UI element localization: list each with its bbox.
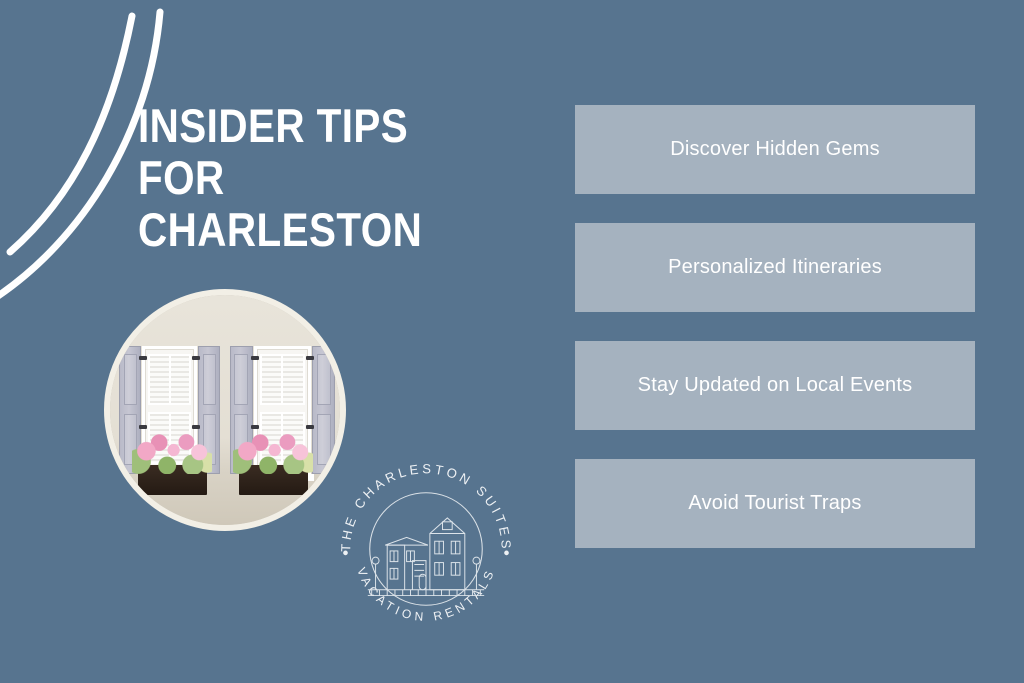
tip-card-label: Discover Hidden Gems — [670, 138, 880, 161]
tip-card-1[interactable]: Discover Hidden Gems — [575, 105, 975, 194]
photo-circle — [104, 289, 346, 531]
page-title: Insider Tips for Charleston — [138, 100, 499, 256]
window-pane — [148, 354, 191, 406]
tip-card-label: Personalized Itineraries — [668, 256, 882, 279]
flowers-icon — [132, 417, 212, 474]
flower-box — [239, 465, 308, 495]
window-pane — [260, 354, 305, 406]
photo-image — [110, 295, 340, 525]
logo-dot-right — [504, 551, 509, 556]
tip-card-4[interactable]: Avoid Tourist Traps — [575, 459, 975, 548]
tip-card-3[interactable]: Stay Updated on Local Events — [575, 341, 975, 430]
logo-arc-top-text: THE CHARLESTON SUITES — [338, 461, 514, 552]
house-illustration-icon — [368, 518, 484, 596]
logo-dot-left — [343, 551, 348, 556]
tips-card-stack: Discover Hidden Gems Personalized Itiner… — [575, 105, 975, 548]
brand-logo: THE CHARLESTON SUITES VACATION RENTALS — [329, 452, 523, 646]
tip-card-label: Stay Updated on Local Events — [638, 374, 913, 397]
tip-card-label: Avoid Tourist Traps — [688, 492, 861, 515]
promo-graphic: Insider Tips for Charleston — [0, 0, 1024, 683]
flowers-icon — [233, 417, 313, 474]
tip-card-2[interactable]: Personalized Itineraries — [575, 223, 975, 312]
flower-box — [138, 465, 207, 495]
